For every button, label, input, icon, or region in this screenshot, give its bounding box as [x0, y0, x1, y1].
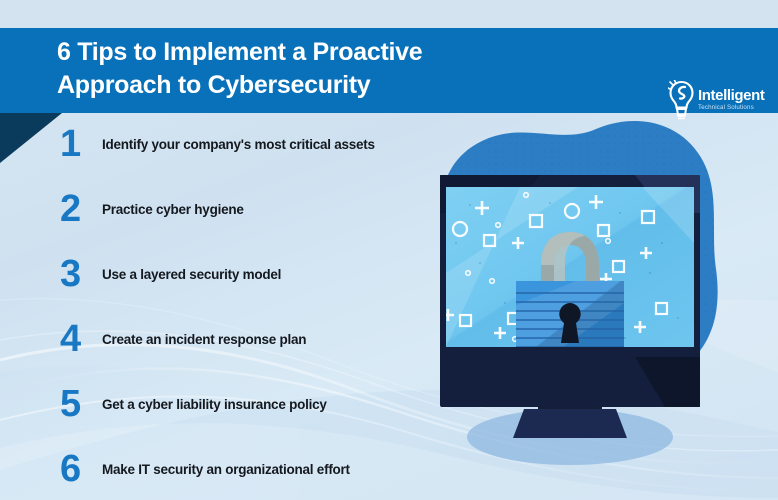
infographic-root: 6 Tips to Implement a Proactive Approach…: [0, 0, 778, 500]
logo-text: Intelligent Technical Solutions: [698, 88, 764, 111]
tip-number: 1: [60, 123, 102, 165]
list-item[interactable]: 4 Create an incident response plan: [60, 316, 306, 362]
tip-label: Use a layered security model: [102, 267, 281, 282]
logo-tagline: Technical Solutions: [698, 105, 764, 111]
page-title-line1: 6 Tips to Implement a Proactive: [57, 36, 577, 69]
tip-label: Practice cyber hygiene: [102, 202, 244, 217]
header-band: 6 Tips to Implement a Proactive Approach…: [0, 28, 778, 113]
list-item[interactable]: 3 Use a layered security model: [60, 251, 281, 297]
tip-number: 6: [60, 448, 102, 490]
list-item[interactable]: 6 Make IT security an organizational eff…: [60, 446, 350, 492]
tip-label: Make IT security an organizational effor…: [102, 462, 350, 477]
tip-number: 2: [60, 188, 102, 230]
tip-number: 4: [60, 318, 102, 360]
logo-name: Intelligent: [698, 88, 764, 103]
list-item[interactable]: 5 Get a cyber liability insurance policy: [60, 381, 327, 427]
page-title: 6 Tips to Implement a Proactive Approach…: [57, 36, 577, 102]
tip-label: Identify your company's most critical as…: [102, 137, 375, 152]
tip-label: Create an incident response plan: [102, 332, 306, 347]
tip-number: 5: [60, 383, 102, 425]
tip-number: 3: [60, 253, 102, 295]
top-strip: [0, 0, 778, 28]
tips-list: 1 Identify your company's most critical …: [0, 113, 470, 500]
list-item[interactable]: 1 Identify your company's most critical …: [60, 121, 375, 167]
page-title-line2: Approach to Cybersecurity: [57, 69, 577, 102]
list-item[interactable]: 2 Practice cyber hygiene: [60, 186, 244, 232]
monitor-base: [513, 409, 627, 438]
tip-label: Get a cyber liability insurance policy: [102, 397, 327, 412]
